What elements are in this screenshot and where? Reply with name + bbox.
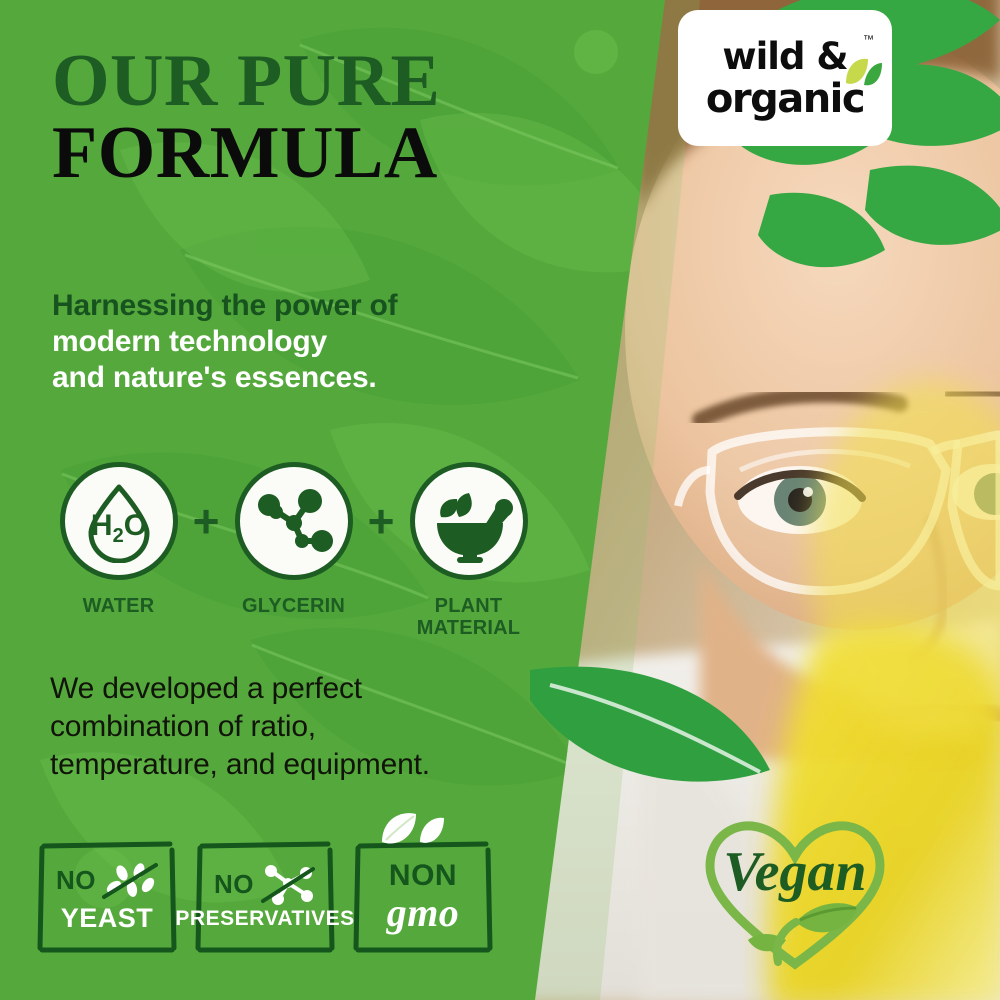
logo-inner: ™ wild & organic (690, 38, 880, 119)
claim-word-gmo: gmo (387, 889, 460, 936)
claim-no-yeast: NO YEAST (34, 838, 180, 956)
heart-leaf-icon: Vegan (700, 812, 890, 980)
headline-line-2: FORMULA (52, 118, 612, 190)
claim-word-preservatives: PRESERVATIVES (175, 907, 354, 931)
ingredient-label-plant: PLANT MATERIAL (417, 596, 520, 639)
no-preservatives-icon (260, 863, 316, 905)
intro-line-2: modern technology (52, 324, 522, 360)
claim-word-yeast: YEAST (61, 903, 154, 934)
overlay-leaf-lower-icon (520, 660, 780, 810)
vegan-text: Vegan (723, 841, 866, 903)
logo-leaves-icon (844, 55, 884, 89)
molecule-icon (252, 479, 336, 563)
no-yeast-icon (102, 861, 158, 901)
claim-no-preservatives: NO (192, 838, 338, 956)
claim-badges: NO YEAST (34, 838, 496, 956)
claim-non-gmo: NON gmo (350, 838, 496, 956)
claim-prefix-yeast: NO (56, 865, 96, 896)
mortar-pestle-icon (425, 479, 513, 563)
brand-logo[interactable]: ™ wild & organic (678, 10, 892, 146)
intro-copy: Harnessing the power of modern technolog… (52, 288, 522, 396)
body-copy: We developed a perfect combination of ra… (50, 670, 530, 784)
ingredient-water: H2O WATER (56, 462, 181, 618)
ingredient-glycerin: GLYCERIN (231, 462, 356, 618)
trademark-symbol: ™ (863, 34, 874, 46)
plant-label-line1: PLANT (435, 595, 503, 617)
ingredient-label-glycerin: GLYCERIN (242, 596, 345, 618)
intro-line-3: and nature's essences. (52, 360, 522, 396)
plus-sign-2: + (356, 462, 406, 580)
water-formula: H2O (90, 509, 146, 547)
glycerin-disc (235, 462, 353, 580)
claim-prefix-preservatives: NO (214, 869, 254, 900)
plus-sign-1: + (181, 462, 231, 580)
promo-canvas: OUR PURE FORMULA Harnessing the power of… (0, 0, 1000, 1000)
headline-line-1: OUR PURE (52, 46, 612, 118)
body-line-1: We developed a perfect (50, 670, 530, 708)
ingredient-plant-material: PLANT MATERIAL (406, 462, 531, 639)
vegan-badge: Vegan (700, 812, 890, 980)
water-disc: H2O (60, 462, 178, 580)
ingredient-label-water: WATER (83, 596, 155, 618)
body-line-2: combination of ratio, (50, 708, 530, 746)
intro-line-1: Harnessing the power of (52, 288, 522, 324)
page-title: OUR PURE FORMULA (52, 46, 612, 190)
plant-material-disc (410, 462, 528, 580)
claim-prefix-gmo: NON (389, 859, 457, 893)
body-line-3: temperature, and equipment. (50, 746, 530, 784)
ingredient-row: H2O WATER + (56, 462, 576, 639)
water-droplet-icon: H2O (77, 479, 161, 563)
plant-label-line2: MATERIAL (417, 617, 520, 639)
